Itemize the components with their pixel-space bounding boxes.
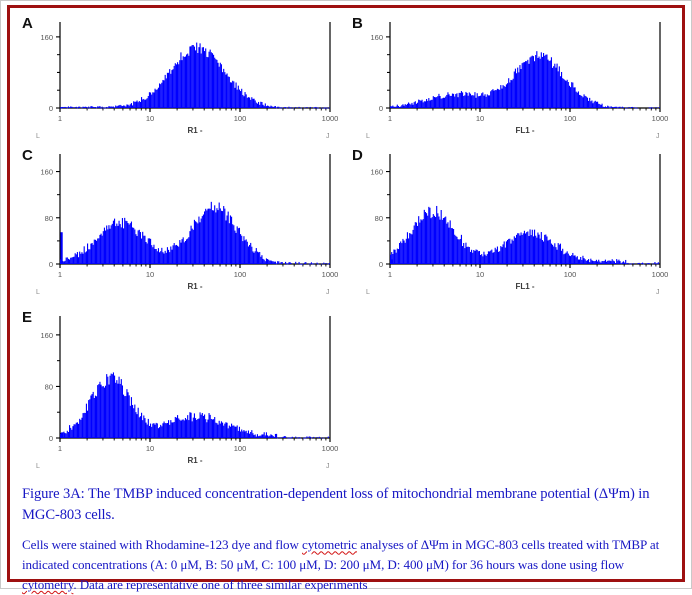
caption-body-segment-1: Cells were stained with Rhodamine-123 dy… — [22, 537, 302, 552]
corner-mark-left: L — [36, 289, 40, 296]
debris-spike — [391, 107, 393, 108]
x-tick-label: 100 — [234, 270, 247, 279]
misspelled-word-cytometric: cytometric — [302, 537, 357, 552]
histogram-plot-c: 0801601101001000R1 - — [18, 146, 348, 302]
histogram-panel-b: B01601101001000FL1 -LJ — [348, 14, 678, 146]
x-axis-title: FL1 - — [515, 126, 534, 135]
histogram-bars — [60, 372, 329, 438]
histogram-panel-d: D0801601101001000FL1 -LJ — [348, 146, 678, 302]
y-tick-label: 0 — [49, 104, 53, 113]
misspelled-word-cytometry: cytometry — [22, 577, 73, 592]
histogram-plot-d: 0801601101001000FL1 - — [348, 146, 678, 302]
caption-title: Figure 3A: The TMBP induced concentratio… — [22, 484, 674, 526]
x-axis-title: R1 - — [187, 126, 202, 135]
y-tick-label: 80 — [45, 382, 53, 391]
x-tick-label: 10 — [146, 114, 154, 123]
x-tick-label: 1000 — [322, 444, 339, 453]
debris-spike — [61, 107, 63, 108]
x-axis-title: R1 - — [187, 456, 202, 465]
figure-border-box: A01601101001000R1 -LJB01601101001000FL1 … — [7, 5, 685, 582]
corner-mark-right: J — [656, 133, 660, 140]
y-tick-label: 0 — [49, 434, 53, 443]
x-tick-label: 10 — [476, 114, 484, 123]
histogram-panel-grid: A01601101001000R1 -LJB01601101001000FL1 … — [10, 8, 682, 478]
corner-mark-left: L — [36, 463, 40, 470]
histogram-bars — [60, 202, 330, 265]
x-tick-label: 10 — [146, 270, 154, 279]
caption-body: Cells were stained with Rhodamine-123 dy… — [22, 535, 674, 595]
y-tick-label: 160 — [370, 33, 383, 42]
y-tick-label: 80 — [45, 214, 53, 223]
corner-mark-right: J — [326, 463, 330, 470]
figure-page: A01601101001000R1 -LJB01601101001000FL1 … — [0, 0, 692, 589]
histogram-plot-e: 0801601101001000R1 - — [18, 308, 348, 476]
x-tick-label: 1000 — [652, 270, 669, 279]
x-tick-label: 100 — [234, 114, 247, 123]
histogram-bars — [390, 51, 660, 108]
y-tick-label: 0 — [379, 260, 383, 269]
corner-mark-right: J — [656, 289, 660, 296]
y-tick-label: 0 — [379, 104, 383, 113]
x-tick-label: 1 — [58, 444, 62, 453]
x-tick-label: 10 — [146, 444, 154, 453]
x-tick-label: 1000 — [652, 114, 669, 123]
debris-spike — [391, 259, 393, 264]
histogram-panel-c: C0801601101001000R1 -LJ — [18, 146, 348, 302]
x-tick-label: 10 — [476, 270, 484, 279]
histogram-panel-a: A01601101001000R1 -LJ — [18, 14, 348, 146]
corner-mark-right: J — [326, 133, 330, 140]
x-tick-label: 1000 — [322, 270, 339, 279]
histogram-panel-e: E0801601101001000R1 -LJ — [18, 308, 348, 476]
corner-mark-right: J — [326, 289, 330, 296]
histogram-plot-b: 01601101001000FL1 - — [348, 14, 678, 146]
figure-caption: Figure 3A: The TMBP induced concentratio… — [22, 484, 674, 595]
x-tick-label: 100 — [234, 444, 247, 453]
corner-mark-left: L — [36, 133, 40, 140]
histogram-plot-a: 01601101001000R1 - — [18, 14, 348, 146]
corner-mark-left: L — [366, 133, 370, 140]
y-tick-label: 160 — [370, 168, 383, 177]
x-axis-title: FL1 - — [515, 282, 534, 291]
x-axis-title: R1 - — [187, 282, 202, 291]
caption-body-segment-3: . Data are representative one of three s… — [73, 577, 367, 592]
x-tick-label: 1 — [388, 270, 392, 279]
x-tick-label: 1000 — [322, 114, 339, 123]
x-tick-label: 1 — [58, 270, 62, 279]
debris-spike — [61, 232, 63, 264]
histogram-bars — [60, 43, 330, 109]
y-tick-label: 0 — [49, 260, 53, 269]
x-tick-label: 1 — [58, 114, 62, 123]
y-tick-label: 160 — [40, 331, 53, 340]
debris-spike — [61, 433, 63, 438]
x-tick-label: 100 — [564, 270, 577, 279]
x-tick-label: 100 — [564, 114, 577, 123]
histogram-bars — [390, 206, 659, 265]
y-tick-label: 160 — [40, 33, 53, 42]
y-tick-label: 80 — [375, 214, 383, 223]
y-tick-label: 160 — [40, 168, 53, 177]
x-tick-label: 1 — [388, 114, 392, 123]
corner-mark-left: L — [366, 289, 370, 296]
